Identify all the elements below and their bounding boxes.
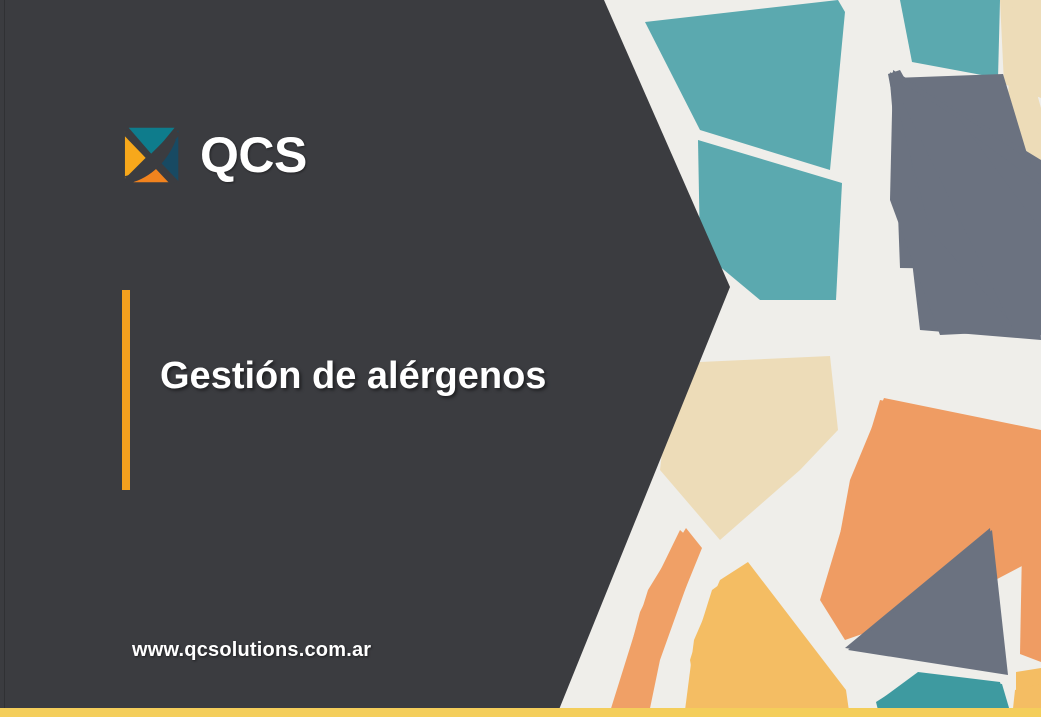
title-slide: QCS Gestión de alérgenos www.qcsolutions… (0, 0, 1041, 717)
bottom-accent-strip (0, 708, 1041, 717)
footer-website-url: www.qcsolutions.com.ar (132, 639, 371, 662)
slide-content: QCS Gestión de alérgenos www.qcsolutions… (0, 0, 560, 717)
qcs-logo-mark-icon (120, 124, 182, 186)
title-accent-bar (122, 290, 130, 490)
brand-wordmark: QCS (200, 130, 307, 180)
slide-title: Gestión de alérgenos (160, 355, 630, 399)
brand-logo: QCS (120, 124, 307, 186)
